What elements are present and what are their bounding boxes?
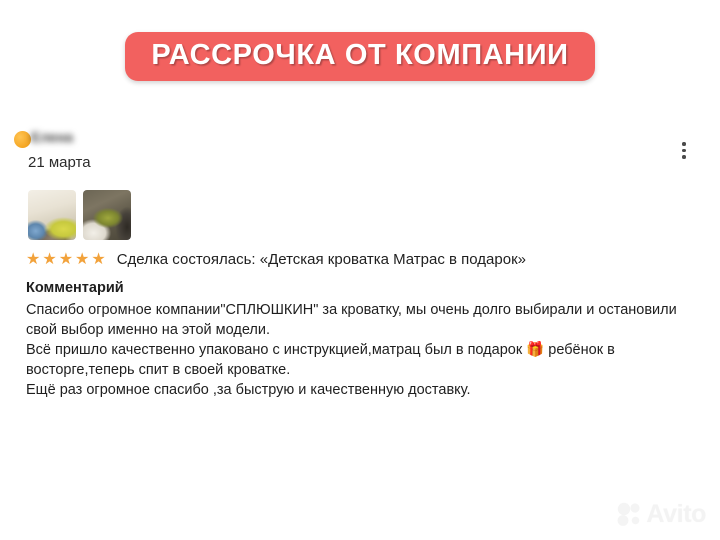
review-photo-thumbnail[interactable] — [28, 190, 76, 240]
review-photo-strip — [28, 190, 131, 240]
star-icon: ★ — [26, 252, 40, 268]
avito-watermark: Avito — [616, 501, 706, 528]
star-rating: ★ ★ ★ ★ ★ — [26, 252, 106, 268]
comment-block: Комментарий Спасибо огромное компании"СП… — [26, 280, 696, 401]
star-icon: ★ — [42, 252, 56, 268]
comment-line: Всё пришло качественно упаковано с инстр… — [26, 341, 696, 361]
comment-line: восторге,теперь спит в своей кроватке. — [26, 361, 696, 381]
rating-row: ★ ★ ★ ★ ★ Сделка состоялась: «Детская кр… — [26, 251, 526, 268]
comment-line: Спасибо огромное компании"СПЛЮШКИН" за к… — [26, 301, 696, 321]
promo-banner: РАССРОЧКА ОТ КОМПАНИИ — [125, 32, 594, 81]
kebab-menu-icon[interactable] — [682, 142, 686, 159]
screenshot-root: РАССРОЧКА ОТ КОМПАНИИ Елена 21 марта ★ ★… — [0, 0, 720, 540]
comment-line: Ещё раз огромное спасибо ,за быструю и к… — [26, 381, 696, 401]
kebab-dot — [682, 149, 686, 153]
review-photo-thumbnail[interactable] — [83, 190, 131, 240]
review-author-name: Елена — [31, 129, 73, 145]
star-icon: ★ — [91, 252, 105, 268]
deal-status-text: Сделка состоялась: «Детская кроватка Мат… — [117, 251, 526, 268]
promo-banner-text: РАССРОЧКА ОТ КОМПАНИИ — [151, 41, 568, 70]
comment-line: свой выбор именно на этой модели. — [26, 321, 696, 341]
star-icon: ★ — [75, 252, 89, 268]
review-header: Елена 21 марта — [0, 120, 720, 182]
promo-banner-wrap: РАССРОЧКА ОТ КОМПАНИИ — [0, 32, 720, 81]
star-icon: ★ — [59, 252, 73, 268]
user-avatar-circle-icon — [14, 131, 31, 148]
kebab-dot — [682, 142, 686, 146]
avito-watermark-text: Avito — [646, 502, 706, 527]
review-date: 21 марта — [28, 154, 91, 171]
comment-heading: Комментарий — [26, 280, 696, 296]
kebab-dot — [682, 155, 686, 159]
avito-logo-icon — [616, 501, 643, 528]
review-card: Елена 21 марта ★ ★ ★ ★ ★ Сделка состояла… — [0, 120, 720, 182]
